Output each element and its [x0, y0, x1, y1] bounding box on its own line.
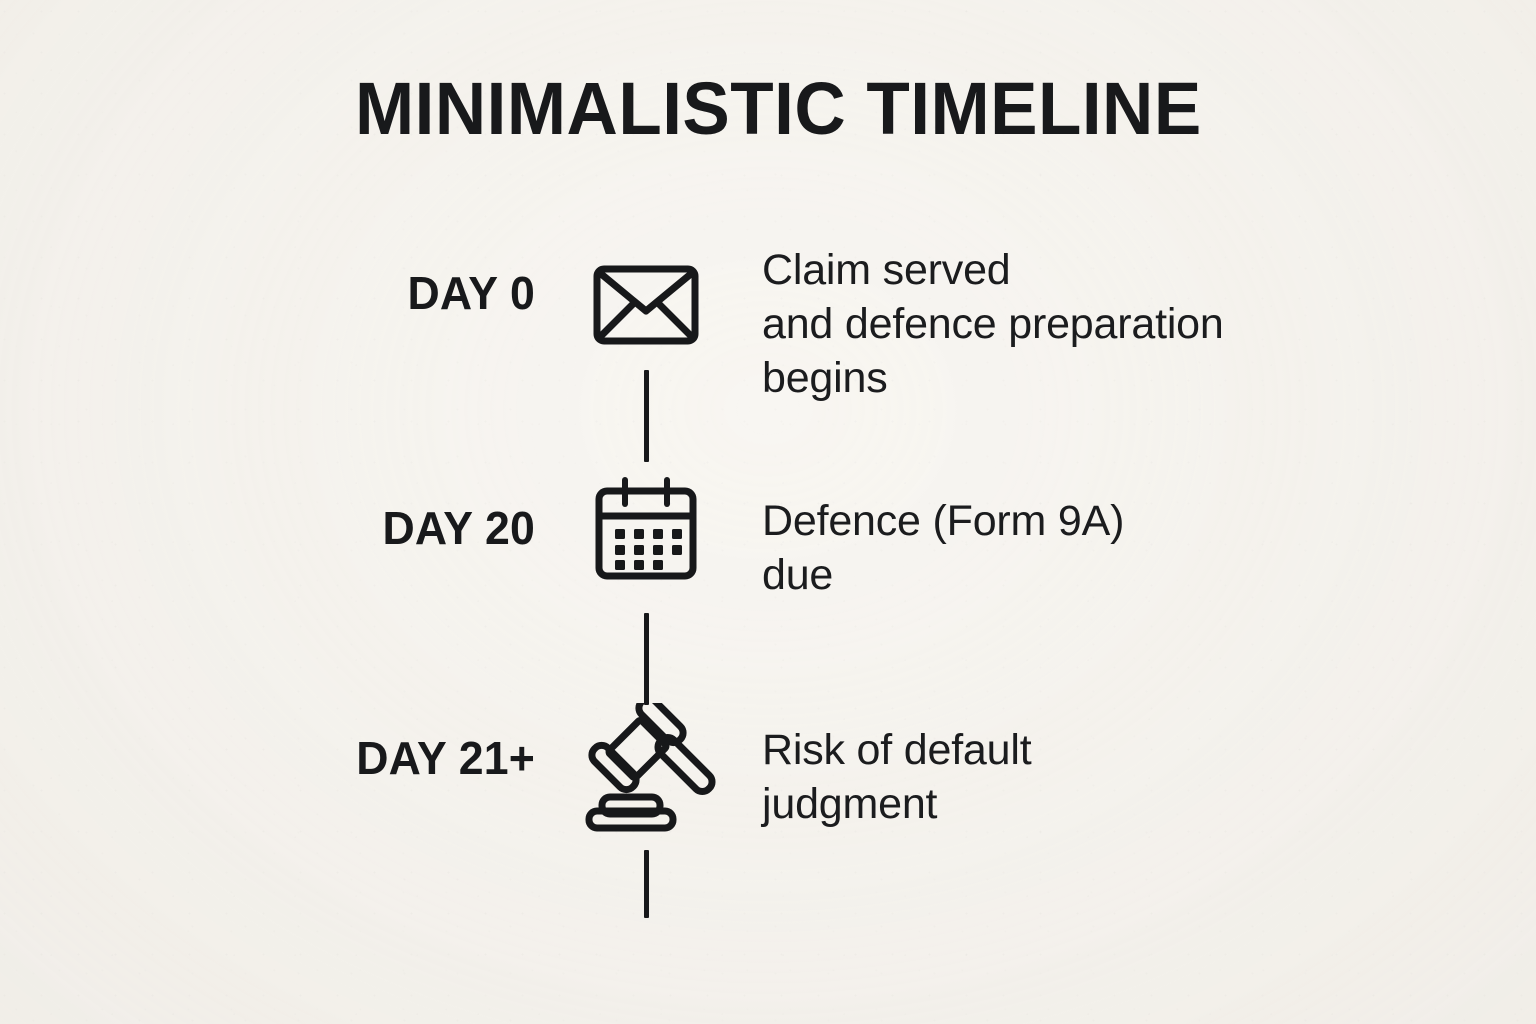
timeline-text-2-line-0: Risk of default	[762, 723, 1402, 777]
gavel-icon	[578, 703, 718, 833]
timeline-text-0-line-1: and defence preparation	[762, 297, 1402, 351]
timeline-text-1-line-0: Defence (Form 9A)	[762, 494, 1402, 548]
timeline-text-2-line-1: judgment	[762, 777, 1402, 831]
day-label-1: DAY 20	[162, 505, 535, 551]
timeline-text-1: Defence (Form 9A) due	[762, 494, 1402, 602]
timeline-connector-1	[644, 370, 649, 462]
day-label-2: DAY 21+	[162, 735, 535, 781]
timeline-connector-2	[644, 613, 649, 705]
envelope-icon	[590, 247, 702, 359]
timeline-text-0-line-2: begins	[762, 351, 1402, 405]
timeline-text-1-line-1: due	[762, 548, 1402, 602]
timeline: DAY 0 Claim served and defence preparati…	[0, 0, 1536, 1024]
timeline-text-2: Risk of default judgment	[762, 723, 1402, 831]
timeline-connector-3	[644, 850, 649, 918]
day-label-0: DAY 0	[162, 270, 535, 316]
timeline-text-0-line-0: Claim served	[762, 243, 1402, 297]
timeline-text-0: Claim served and defence preparation beg…	[762, 243, 1402, 405]
calendar-icon	[590, 472, 702, 584]
